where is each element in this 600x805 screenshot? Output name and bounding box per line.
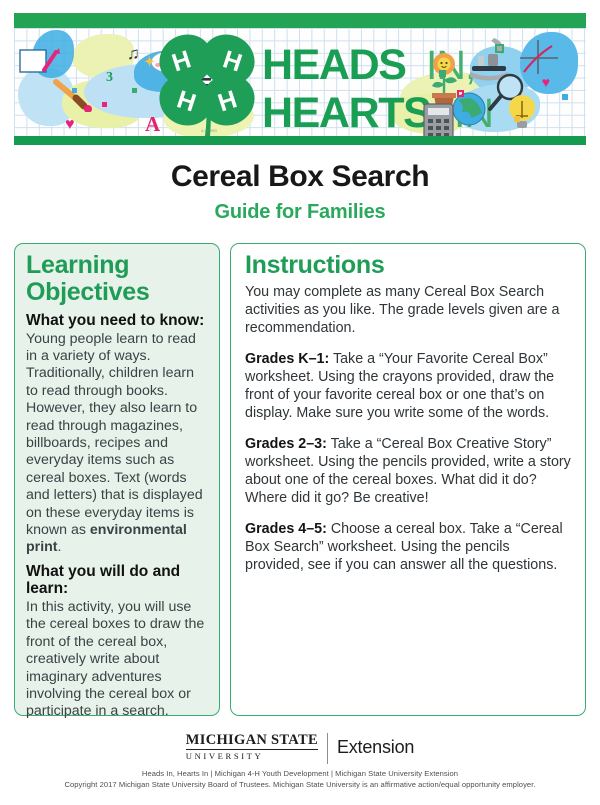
paintbrush-icon (50, 78, 96, 112)
need-to-know-body: Young people learn to read in a variety … (26, 331, 208, 557)
instruction-grade-label: Grades 4–5: (245, 521, 327, 537)
need-to-know-heading: What you need to know: (26, 312, 208, 330)
banner-top-green-bar (14, 13, 586, 28)
decor-square-pink-right (457, 90, 464, 97)
msu-wordmark: MICHIGAN STATE UNIVERSITY (186, 733, 318, 762)
decor-square-green-right (439, 70, 446, 77)
decor-square-yellow-right (514, 116, 520, 122)
extension-word: Extension (337, 737, 414, 761)
banner-bottom-green-bar (14, 136, 586, 145)
will-do-and-learn-heading: What you will do and learn: (26, 563, 208, 598)
learning-objectives-heading: Learning Objectives (26, 252, 208, 306)
decor-square-green-outline (495, 44, 504, 53)
page-subtitle: Guide for Families (0, 201, 600, 224)
banner-grid-background: ♫ 3 1 A ♥ ✦ ✦ H H H (14, 28, 586, 136)
need-to-know-text-2: . (58, 539, 62, 555)
need-to-know-text-1: Young people learn to read in a variety … (26, 331, 203, 538)
msu-line-2: UNIVERSITY (186, 750, 318, 761)
clover-tagline: 4-H.ORG (201, 129, 217, 133)
msu-line-1: MICHIGAN STATE (186, 733, 318, 750)
brand-heads-in-word: HEADS (262, 44, 406, 87)
decor-square-blue-right (562, 94, 568, 100)
lightbulb-icon (504, 92, 540, 132)
decor-square-green (132, 88, 137, 93)
number-3-glyph: 3 (106, 70, 113, 86)
graph-axes-icon (516, 38, 562, 78)
instruction-item: Grades 2–3: Take a “Cereal Box Creative … (245, 435, 572, 507)
instruction-grade-label: Grades K–1: (245, 351, 329, 367)
logo-divider (327, 733, 328, 764)
music-note-icon: ♫ (127, 44, 140, 64)
calculator-icon (422, 102, 456, 136)
heart-icon-right: ♥ (542, 76, 550, 92)
will-do-and-learn-body: In this activity, you will use the cerea… (26, 599, 208, 721)
page-title: Cereal Box Search (0, 160, 600, 194)
footer-credits: Heads In, Hearts In | Michigan 4-H Youth… (0, 769, 600, 778)
paper-pencil-icon (18, 46, 62, 80)
instructions-panel: Instructions You may complete as many Ce… (230, 243, 586, 716)
header-banner: ♫ 3 1 A ♥ ✦ ✦ H H H (14, 13, 586, 145)
decor-square-pink (102, 102, 107, 107)
heart-icon: ♥ (65, 116, 75, 134)
instructions-heading: Instructions (245, 252, 572, 280)
instructions-intro: You may complete as many Cereal Box Sear… (245, 283, 572, 337)
msu-extension-logo: MICHIGAN STATE UNIVERSITY Extension (0, 733, 600, 764)
star-icon: ✦ (144, 54, 155, 70)
instruction-grade-label: Grades 2–3: (245, 436, 327, 452)
brand-hearts-in-word: HEARTS (262, 92, 430, 135)
instruction-item: Grades 4–5: Choose a cereal box. Take a … (245, 520, 572, 574)
four-h-clover-logo: H H H H 4-H.ORG (155, 30, 259, 136)
footer-copyright: Copyright 2017 Michigan State University… (0, 780, 600, 789)
learning-objectives-panel: Learning Objectives What you need to kno… (14, 243, 220, 716)
decor-square-blue (72, 88, 77, 93)
instruction-item: Grades K–1: Take a “Your Favorite Cereal… (245, 350, 572, 422)
